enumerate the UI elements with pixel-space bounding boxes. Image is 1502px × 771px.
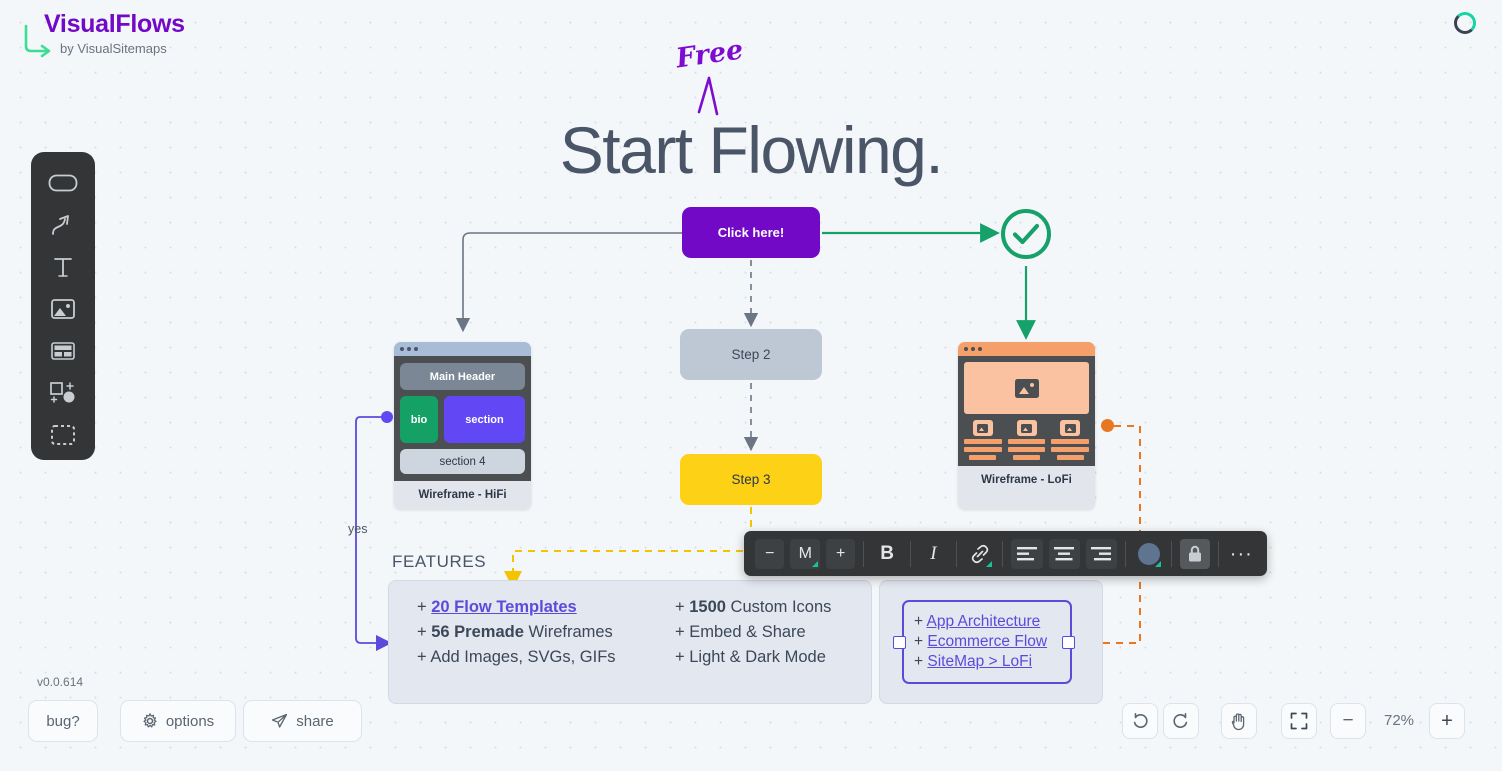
align-center-button[interactable] xyxy=(1049,539,1080,569)
features-box[interactable]: + 20 Flow Templates + 56 Premade Wirefra… xyxy=(388,580,872,704)
toolbar-divider xyxy=(863,541,864,567)
align-left-icon xyxy=(1017,547,1037,561)
options-button[interactable]: options xyxy=(120,700,236,742)
gear-icon xyxy=(142,713,158,729)
flow-canvas[interactable]: VisualFlows by VisualSitemaps Free Start… xyxy=(0,0,1502,771)
app-logo[interactable]: VisualFlows by VisualSitemaps xyxy=(22,12,282,64)
lock-button[interactable] xyxy=(1180,539,1209,569)
bold-button[interactable]: B xyxy=(872,539,901,569)
options-button-label: options xyxy=(166,713,214,730)
marquee-select-icon[interactable] xyxy=(41,416,85,454)
image-icon[interactable] xyxy=(41,290,85,328)
zoom-level-label: 72% xyxy=(1376,712,1422,729)
left-tool-palette[interactable] xyxy=(31,152,95,460)
font-size-decrease-button[interactable]: − xyxy=(755,539,784,569)
wireframe-hifi-bio-block: bio xyxy=(400,396,438,443)
wireframe-hifi-section-block: section xyxy=(444,396,525,443)
connector-arrow-icon[interactable] xyxy=(41,206,85,244)
undo-button[interactable] xyxy=(1122,703,1158,739)
features-heading: FEATURES xyxy=(392,552,486,572)
selection-handle-left[interactable] xyxy=(893,636,906,649)
wireframe-hifi-body: Main Header bio section section 4 xyxy=(394,356,531,481)
font-size-increase-button[interactable]: + xyxy=(826,539,855,569)
align-center-icon xyxy=(1054,547,1074,561)
wireframe-lofi-column xyxy=(1051,420,1089,460)
page-title: Start Flowing. xyxy=(0,112,1502,188)
bug-button-label: bug? xyxy=(46,713,79,730)
align-left-button[interactable] xyxy=(1011,539,1042,569)
success-check-icon[interactable] xyxy=(999,207,1053,261)
wireframe-lofi-column xyxy=(964,420,1002,460)
links-selection-frame[interactable]: + App Architecture + Ecommerce Flow + Si… xyxy=(902,600,1072,684)
dropdown-corner-icon xyxy=(986,561,992,567)
toolbar-divider xyxy=(1125,541,1126,567)
align-right-icon xyxy=(1091,547,1111,561)
wireframe-lofi-hero-image-icon xyxy=(964,362,1089,414)
link-item[interactable]: + App Architecture xyxy=(914,613,1060,631)
wireframe-icon[interactable] xyxy=(41,332,85,370)
version-label: v0.0.614 xyxy=(37,675,83,689)
wireframe-lofi-card[interactable]: Wireframe - LoFi xyxy=(958,342,1095,509)
toolbar-divider xyxy=(1171,541,1172,567)
shapes-add-icon[interactable] xyxy=(41,374,85,412)
feature-item: + Light & Dark Mode xyxy=(675,648,831,667)
wireframe-hifi-caption: Wireframe - HiFi xyxy=(394,481,531,508)
zoom-out-label: − xyxy=(1342,714,1353,728)
wireframe-lofi-body xyxy=(958,356,1095,466)
send-plane-icon xyxy=(271,713,288,730)
node-step-2[interactable]: Step 2 xyxy=(680,329,822,380)
edge-label-yes: yes xyxy=(348,522,367,536)
wireframe-lofi-connector-handle[interactable] xyxy=(1101,419,1114,432)
wireframe-hifi-card[interactable]: Main Header bio section section 4 Wirefr… xyxy=(394,342,531,509)
logo-subtitle-text: by VisualSitemaps xyxy=(60,41,282,56)
fit-screen-icon xyxy=(1290,712,1308,730)
share-button-label: share xyxy=(296,713,334,730)
shape-rect-icon[interactable] xyxy=(41,164,85,202)
font-size-medium-button[interactable]: M xyxy=(790,539,819,569)
zoom-out-button[interactable]: − xyxy=(1330,703,1366,739)
dropdown-corner-icon xyxy=(1155,561,1161,567)
wireframe-hifi-titlebar xyxy=(394,342,531,356)
bug-report-button[interactable]: bug? xyxy=(28,700,98,742)
feature-item: + 56 Premade Wireframes xyxy=(417,623,657,642)
node-click-here[interactable]: Click here! xyxy=(682,207,820,258)
wireframe-hifi-main-header: Main Header xyxy=(400,363,525,390)
redo-icon xyxy=(1172,712,1190,730)
lock-icon xyxy=(1187,545,1203,563)
hand-icon xyxy=(1230,712,1248,731)
redo-button[interactable] xyxy=(1163,703,1199,739)
selection-handle-right[interactable] xyxy=(1062,636,1075,649)
wireframe-lofi-caption: Wireframe - LoFi xyxy=(958,466,1095,493)
features-column-2: + 1500 Custom Icons + Embed & Share + Li… xyxy=(675,598,831,686)
node-step-3[interactable]: Step 3 xyxy=(680,454,822,505)
wireframe-lofi-titlebar xyxy=(958,342,1095,356)
feature-item: + 1500 Custom Icons xyxy=(675,598,831,617)
dropdown-corner-icon xyxy=(812,561,818,567)
align-right-button[interactable] xyxy=(1086,539,1117,569)
more-options-button[interactable]: ··· xyxy=(1227,539,1256,569)
feature-item[interactable]: + 20 Flow Templates xyxy=(417,598,657,617)
format-toolbar[interactable]: − M + B I ··· xyxy=(744,531,1267,576)
toolbar-divider xyxy=(910,541,911,567)
font-size-value: M xyxy=(799,545,812,563)
undo-icon xyxy=(1131,712,1149,730)
toolbar-divider xyxy=(956,541,957,567)
toolbar-divider xyxy=(1218,541,1219,567)
loading-spinner-icon xyxy=(1454,12,1476,34)
toolbar-divider xyxy=(1002,541,1003,567)
zoom-in-label: + xyxy=(1441,713,1453,729)
pan-hand-button[interactable] xyxy=(1221,703,1257,739)
feature-item: + Embed & Share xyxy=(675,623,831,642)
free-badge-text: Free xyxy=(674,33,758,76)
features-column-1: + 20 Flow Templates + 56 Premade Wirefra… xyxy=(417,598,657,686)
zoom-in-button[interactable]: + xyxy=(1429,703,1465,739)
wireframe-hifi-section4-block: section 4 xyxy=(400,449,525,474)
feature-item: + Add Images, SVGs, GIFs xyxy=(417,648,657,667)
wireframe-hifi-connector-handle[interactable] xyxy=(381,411,393,423)
text-icon[interactable] xyxy=(41,248,85,286)
share-button[interactable]: share xyxy=(243,700,362,742)
logo-brand-text: VisualFlows xyxy=(44,12,282,37)
link-item[interactable]: + SiteMap > LoFi xyxy=(914,653,1060,671)
fit-to-screen-button[interactable] xyxy=(1281,703,1317,739)
italic-button[interactable]: I xyxy=(919,539,948,569)
logo-hook-arrow-icon xyxy=(22,24,56,58)
link-button[interactable] xyxy=(965,539,994,569)
link-item[interactable]: + Ecommerce Flow xyxy=(914,633,1060,651)
wireframe-lofi-column xyxy=(1008,420,1046,460)
color-swatch-button[interactable] xyxy=(1134,539,1163,569)
